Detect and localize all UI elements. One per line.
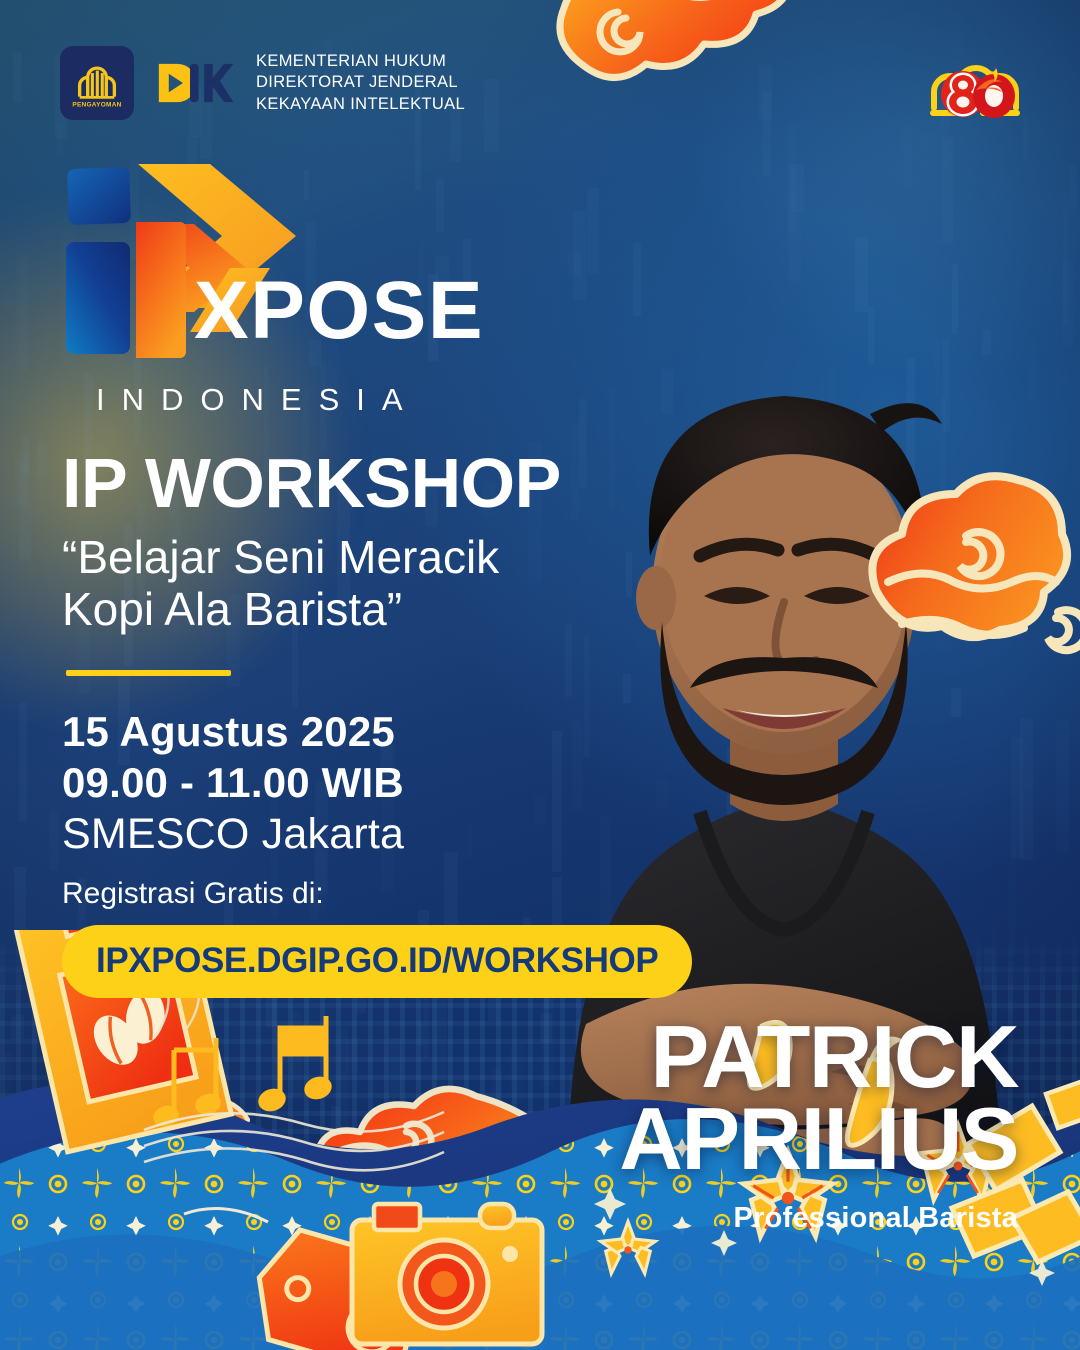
speaker-info: PATRICK APRILIUS Professional Barista (619, 1016, 1018, 1235)
ministry-name: KEMENTERIAN HUKUM DIREKTORAT JENDERAL KE… (256, 51, 465, 115)
anniversary-80-logo (914, 34, 1034, 134)
page-title: IP WORKSHOP (62, 448, 662, 518)
poster-root: PENGAYOMAN KEMENTERIAN HUKUM DIREKTORAT … (0, 0, 1080, 1350)
ipxpose-wordmark-text: XPOSE (194, 265, 484, 356)
event-time: 09.00 - 11.00 WIB (62, 757, 662, 808)
divider-line (66, 670, 231, 676)
pengayoman-logo: PENGAYOMAN (60, 46, 134, 120)
cloud-motif-small (120, 1088, 250, 1154)
speaker-name: PATRICK APRILIUS (619, 1016, 1018, 1180)
cloud-motif-top (508, 0, 798, 84)
registration-url-button[interactable]: IPXPOSE.DGIP.GO.ID/WORKSHOP (62, 925, 692, 998)
wordmark-subtitle: INDONESIA (96, 382, 662, 418)
ipxpose-logo: XPOSE (66, 150, 516, 400)
content-column: XPOSE INDONESIA IP WORKSHOP “Belajar Sen… (62, 150, 662, 998)
pengayoman-caption: PENGAYOMAN (72, 102, 121, 109)
speaker-role: Professional Barista (619, 1202, 1018, 1235)
cloud-motif-right (862, 462, 1080, 672)
event-details: 15 Agustus 2025 09.00 - 11.00 WIB SMESCO… (62, 706, 662, 861)
cloud-motif-middle (308, 1082, 578, 1212)
page-subtitle: “Belajar Seni Meracik Kopi Ala Barista” (62, 532, 662, 636)
event-date: 15 Agustus 2025 (62, 706, 662, 757)
djki-logo (156, 58, 234, 108)
event-venue: SMESCO Jakarta (62, 808, 662, 860)
header-logos: PENGAYOMAN KEMENTERIAN HUKUM DIREKTORAT … (60, 46, 465, 120)
registration-label: Registrasi Gratis di: (62, 877, 662, 911)
